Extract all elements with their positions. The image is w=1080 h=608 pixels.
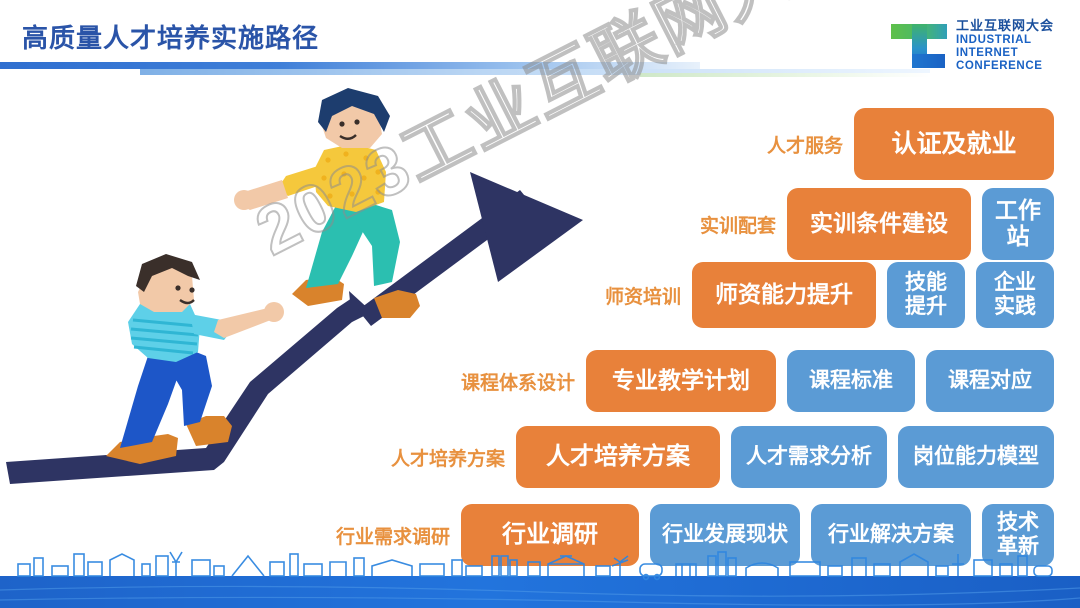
footer-skyline bbox=[0, 550, 1080, 608]
row-category-label: 师资培训 bbox=[605, 282, 681, 309]
pathway-row: 课程体系设计专业教学计划课程标准课程对应 bbox=[461, 350, 1054, 412]
pathway-card-label: 人才培养方案 bbox=[546, 444, 690, 471]
pathway-card-label: 工作站 bbox=[995, 198, 1041, 250]
pathway-card[interactable]: 专业教学计划 bbox=[586, 350, 776, 412]
logo-mark-foot bbox=[912, 54, 945, 68]
logo-en-line3: CONFERENCE bbox=[956, 60, 1054, 73]
pathway-card-label: 行业调研 bbox=[502, 522, 598, 549]
pathway-card[interactable]: 岗位能力模型 bbox=[898, 426, 1054, 488]
pathway-card-label: 课程对应 bbox=[948, 369, 1032, 393]
pathway-card[interactable]: 课程对应 bbox=[926, 350, 1054, 412]
pathway-card-label: 人才需求分析 bbox=[746, 445, 872, 469]
pathway-row: 师资培训师资能力提升技能提升企业实践 bbox=[605, 262, 1054, 328]
pathway-card[interactable]: 人才需求分析 bbox=[731, 426, 887, 488]
logo-chinese-name: 工业互联网大会 bbox=[956, 19, 1054, 34]
logo-text: 工业互联网大会 INDUSTRIAL INTERNET CONFERENCE bbox=[956, 19, 1054, 72]
pathway-card-label: 行业解决方案 bbox=[828, 523, 954, 547]
divider-bar-primary bbox=[0, 62, 700, 69]
logo-en-line1: INDUSTRIAL bbox=[956, 34, 1054, 47]
pathway-card-label: 认证及就业 bbox=[891, 130, 1016, 158]
logo-en-line2: INTERNET bbox=[956, 47, 1054, 60]
pathway-card-label: 课程标准 bbox=[809, 369, 893, 393]
pathway-card[interactable]: 技能提升 bbox=[887, 262, 965, 328]
pathway-card-label: 技能提升 bbox=[905, 271, 947, 318]
pathway-row: 实训配套实训条件建设工作站 bbox=[700, 188, 1054, 260]
pathway-row: 人才服务认证及就业 bbox=[767, 108, 1054, 180]
slide-root: 高质量人才培养实施路径 工业互联网大会 INDUSTRIAL INTERNET … bbox=[0, 0, 1080, 608]
pathway-card-label: 岗位能力模型 bbox=[913, 445, 1039, 469]
pathway-card[interactable]: 课程标准 bbox=[787, 350, 915, 412]
pathway-card-label: 企业实践 bbox=[994, 271, 1036, 318]
pathway-card[interactable]: 实训条件建设 bbox=[787, 188, 971, 260]
pathway-card[interactable]: 企业实践 bbox=[976, 262, 1054, 328]
row-category-label: 人才培养方案 bbox=[391, 444, 505, 471]
pathway-card[interactable]: 工作站 bbox=[982, 188, 1054, 260]
pathway-card-label: 行业发展现状 bbox=[662, 523, 788, 547]
pathway-row: 人才培养方案人才培养方案人才需求分析岗位能力模型 bbox=[391, 426, 1054, 488]
row-category-label: 人才服务 bbox=[767, 131, 843, 158]
pathway-card-label: 实训条件建设 bbox=[810, 211, 948, 237]
pathway-card[interactable]: 师资能力提升 bbox=[692, 262, 876, 328]
person-upper bbox=[234, 88, 420, 318]
row-category-label: 课程体系设计 bbox=[461, 368, 575, 395]
pathway-card-label: 师资能力提升 bbox=[715, 282, 853, 308]
divider-bar-accent bbox=[640, 73, 930, 77]
page-title: 高质量人才培养实施路径 bbox=[22, 18, 319, 55]
pathway-card-label: 专业教学计划 bbox=[612, 368, 750, 394]
pathway-card[interactable]: 人才培养方案 bbox=[516, 426, 720, 488]
logo-mark-icon bbox=[891, 18, 947, 74]
conference-logo: 工业互联网大会 INDUSTRIAL INTERNET CONFERENCE bbox=[891, 18, 1054, 74]
row-category-label: 实训配套 bbox=[700, 211, 776, 238]
person-lower bbox=[106, 254, 284, 464]
pathway-card[interactable]: 认证及就业 bbox=[854, 108, 1054, 180]
row-category-label: 行业需求调研 bbox=[336, 522, 450, 549]
